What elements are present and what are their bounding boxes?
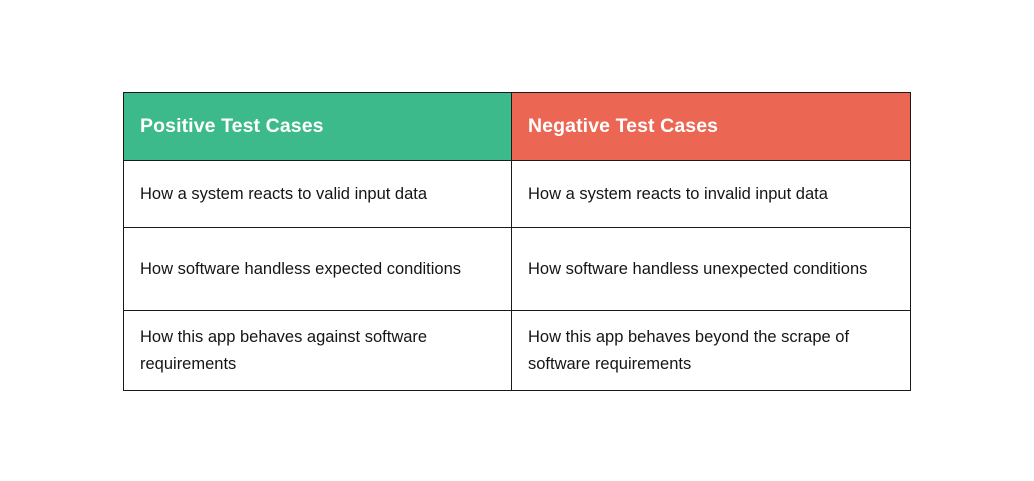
column-header-positive: Positive Test Cases: [124, 93, 512, 161]
cell-negative-3: How this app behaves beyond the scrape o…: [512, 311, 911, 391]
page-canvas: Positive Test Cases Negative Test Cases …: [0, 0, 1034, 481]
cell-positive-1: How a system reacts to valid input data: [124, 161, 512, 228]
cell-text: How a system reacts to valid input data: [140, 181, 495, 208]
table-header: Positive Test Cases Negative Test Cases: [124, 93, 911, 161]
table-row: How a system reacts to valid input data …: [124, 161, 911, 228]
cell-positive-2: How software handless expected condition…: [124, 228, 512, 311]
positive-negative-test-cases-table: Positive Test Cases Negative Test Cases …: [123, 92, 911, 391]
column-header-negative: Negative Test Cases: [512, 93, 911, 161]
cell-negative-2: How software handless unexpected conditi…: [512, 228, 911, 311]
column-header-positive-label: Positive Test Cases: [140, 114, 495, 138]
table-header-row: Positive Test Cases Negative Test Cases: [124, 93, 911, 161]
table-body: How a system reacts to valid input data …: [124, 161, 911, 391]
cell-text: How software handless unexpected conditi…: [528, 256, 894, 283]
cell-text: How software handless expected condition…: [140, 256, 495, 283]
cell-text: How a system reacts to invalid input dat…: [528, 181, 894, 208]
cell-text: How this app behaves against software re…: [140, 324, 495, 377]
cell-text: How this app behaves beyond the scrape o…: [528, 324, 894, 377]
table-row: How software handless expected condition…: [124, 228, 911, 311]
table-row: How this app behaves against software re…: [124, 311, 911, 391]
cell-positive-3: How this app behaves against software re…: [124, 311, 512, 391]
cell-negative-1: How a system reacts to invalid input dat…: [512, 161, 911, 228]
column-header-negative-label: Negative Test Cases: [528, 114, 894, 138]
